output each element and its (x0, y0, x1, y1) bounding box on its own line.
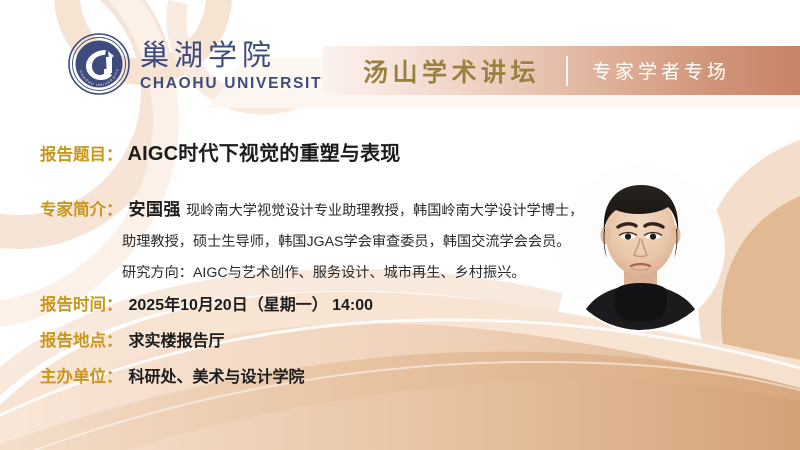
university-logo-block: 巢 湖 学 院 CHAOHU UNIVERSITY 巢湖学院 CHAOHU UN… (68, 33, 334, 95)
speaker-bio-line-1: 现岭南大学视觉设计专业助理教授，韩国岭南大学设计学博士， (186, 200, 583, 220)
report-host-row: 主办单位： 科研处、美术与设计学院 (40, 363, 305, 387)
speaker-bio-first-line: 专家简介： 安国强 现岭南大学视觉设计专业助理教授，韩国岭南大学设计学博士， (40, 195, 560, 220)
speaker-name: 安国强 (129, 195, 182, 220)
report-host-value: 科研处、美术与设计学院 (129, 363, 305, 387)
speaker-bio-label: 专家简介： (40, 196, 123, 220)
report-title-value: AIGC时代下视觉的重塑与表现 (128, 137, 401, 166)
report-time-row: 报告时间： 2025年10月20日（星期一） 14:00 (40, 291, 373, 315)
lecture-poster: 巢 湖 学 院 CHAOHU UNIVERSITY 巢湖学院 CHAOHU UN… (0, 0, 800, 450)
forum-banner: 汤山学术讲坛 专家学者专场 (323, 46, 800, 95)
right-swoosh (698, 140, 800, 450)
report-place-row: 报告地点： 求实楼报告厅 (40, 327, 225, 351)
speaker-bio-row: 专家简介： 安国强 现岭南大学视觉设计专业助理教授，韩国岭南大学设计学博士， 助… (40, 195, 560, 282)
report-time-value: 2025年10月20日（星期一） 14:00 (129, 291, 374, 315)
banner-divider (566, 56, 568, 86)
poster-header: 巢 湖 学 院 CHAOHU UNIVERSITY 巢湖学院 CHAOHU UN… (0, 0, 800, 120)
speaker-bio-line-3: 研究方向：AIGC与艺术创作、服务设计、城市再生、乡村振兴。 (122, 262, 560, 282)
speaker-portrait (558, 165, 723, 330)
svg-text:巢湖学院: 巢湖学院 (140, 39, 276, 72)
forum-banner-subtitle: 专家学者专场 (592, 57, 730, 84)
report-place-value: 求实楼报告厅 (129, 327, 225, 351)
report-title-row: 报告题目： AIGC时代下视觉的重塑与表现 (40, 137, 401, 166)
report-time-label: 报告时间： (40, 291, 123, 315)
university-name-block: 巢湖学院 CHAOHU UNIVERSITY (140, 37, 334, 92)
report-title-label: 报告题目： (40, 141, 123, 165)
university-name-en: CHAOHU UNIVERSITY (140, 76, 334, 92)
university-name-cn: 巢湖学院 (140, 37, 310, 73)
speaker-bio-line-2: 助理教授，硕士生导师，韩国JGAS学会审查委员，韩国交流学会会员。 (122, 231, 560, 251)
chaohu-university-seal-icon: 巢 湖 学 院 CHAOHU UNIVERSITY (68, 33, 130, 95)
report-place-label: 报告地点： (40, 327, 123, 351)
report-host-label: 主办单位： (40, 363, 123, 387)
ribbon-accent (120, 380, 800, 450)
forum-banner-title: 汤山学术讲坛 (363, 53, 540, 89)
